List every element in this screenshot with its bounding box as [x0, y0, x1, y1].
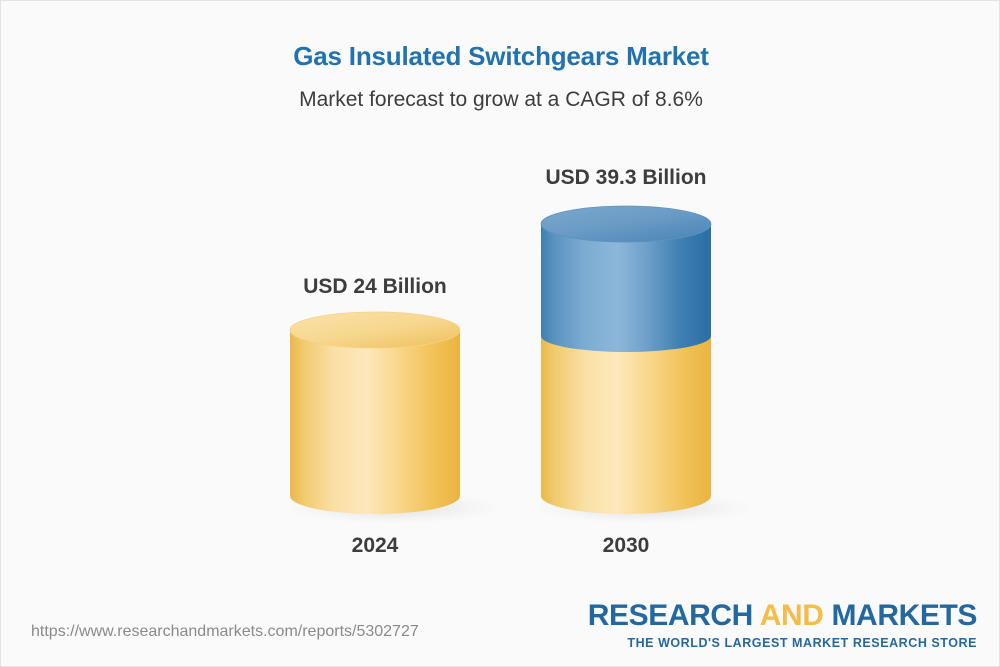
cylinder-segment-base-2030 — [541, 336, 711, 514]
logo-wordmark: RESEARCH AND MARKETS — [588, 601, 977, 631]
category-label-2030: 2030 — [466, 534, 786, 558]
logo-word-and: AND — [760, 599, 824, 632]
logo-word-markets: MARKETS — [831, 599, 977, 632]
logo-word-research: RESEARCH — [588, 599, 753, 632]
research-and-markets-logo[interactable]: RESEARCH AND MARKETS THE WORLD'S LARGEST… — [588, 601, 977, 650]
cylinder-segment-growth-2030 — [541, 224, 711, 352]
bar-group-2030: USD 39.3 Billion — [466, 1, 786, 601]
chart-canvas: Gas Insulated Switchgears Market Market … — [0, 0, 1000, 667]
cylinder-body-2024 — [290, 330, 460, 514]
logo-tagline: THE WORLD'S LARGEST MARKET RESEARCH STOR… — [588, 637, 977, 650]
plot-area: USD 24 Billion — [1, 1, 1000, 601]
cylinder-2030 — [466, 198, 786, 523]
value-label-2030: USD 39.3 Billion — [466, 166, 786, 190]
report-url[interactable]: https://www.researchandmarkets.com/repor… — [31, 623, 419, 641]
